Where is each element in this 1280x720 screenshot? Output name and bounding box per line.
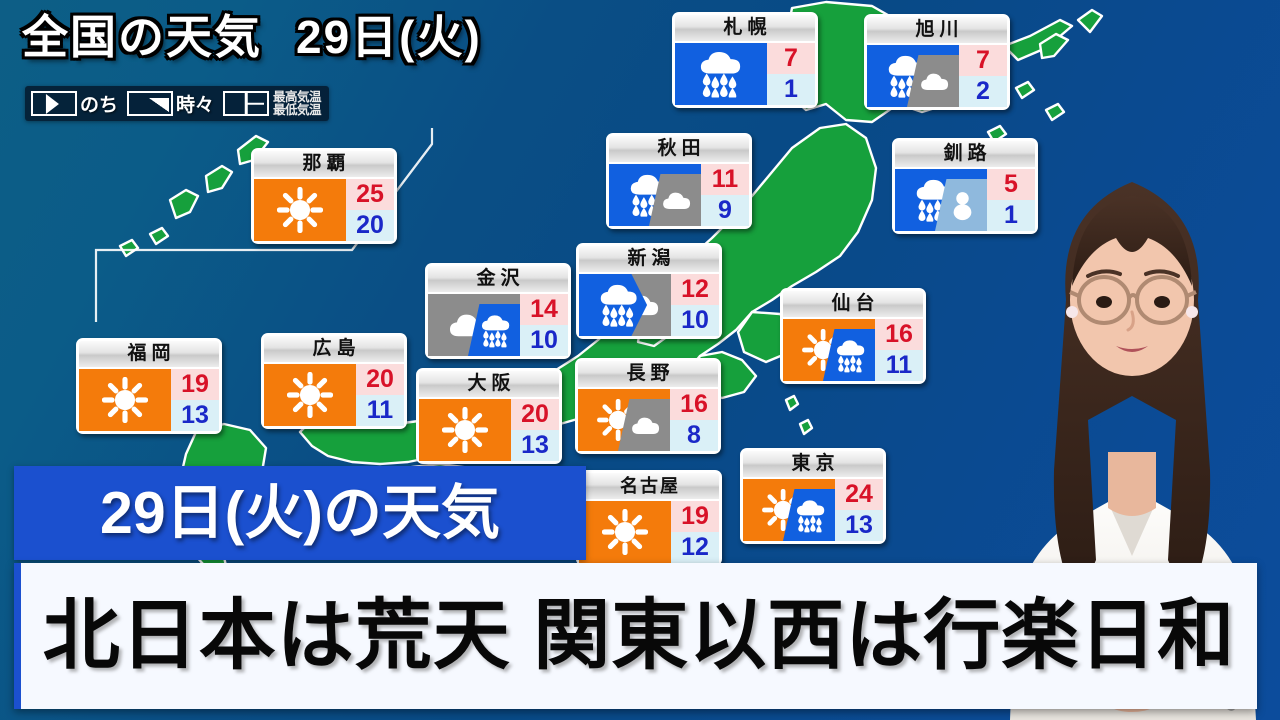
temperature-block: 2011 bbox=[356, 364, 404, 426]
temperature-block: 2520 bbox=[346, 179, 394, 241]
temperature-block: 1912 bbox=[671, 501, 719, 563]
low-temperature: 20 bbox=[346, 210, 394, 241]
weather-condition-graphic bbox=[254, 179, 346, 241]
high-temperature: 19 bbox=[671, 501, 719, 532]
card-body: 2013 bbox=[419, 399, 559, 461]
temp-split-icon bbox=[223, 91, 269, 116]
weather-condition-graphic bbox=[264, 364, 356, 426]
city-name: 仙台 bbox=[783, 291, 923, 317]
weather-condition-graphic bbox=[419, 399, 511, 461]
high-temperature: 25 bbox=[346, 179, 394, 210]
low-temperature: 11 bbox=[875, 350, 923, 381]
city-name: 長野 bbox=[578, 361, 718, 387]
city-name: 金沢 bbox=[428, 266, 568, 292]
card-body: 2413 bbox=[743, 479, 883, 541]
weather-card[interactable]: 長野 168 bbox=[575, 358, 721, 454]
rain-icon bbox=[698, 51, 744, 98]
card-body: 168 bbox=[578, 389, 718, 451]
temperature-block: 168 bbox=[670, 389, 718, 451]
weather-condition-graphic bbox=[895, 169, 987, 231]
primary-condition-layer bbox=[79, 369, 171, 431]
city-name: 新潟 bbox=[579, 246, 719, 272]
weather-card[interactable]: 名古屋1912 bbox=[576, 470, 722, 566]
legend-item-nochi: のち bbox=[31, 90, 118, 117]
card-body: 71 bbox=[675, 43, 815, 105]
low-temperature: 9 bbox=[701, 195, 749, 226]
weather-card[interactable]: 東京 2413 bbox=[740, 448, 886, 544]
weather-card[interactable]: 札幌 71 bbox=[672, 12, 818, 108]
low-temperature: 13 bbox=[171, 400, 219, 431]
primary-condition-layer bbox=[419, 399, 511, 461]
city-name: 秋田 bbox=[609, 136, 749, 162]
title-text: 全国の天気 bbox=[22, 11, 262, 63]
legend-label-low-temp: 最低気温 bbox=[273, 104, 321, 117]
weather-card[interactable]: 広島2011 bbox=[261, 333, 407, 429]
tokidoki-split-icon bbox=[127, 91, 173, 116]
weather-condition-graphic bbox=[579, 274, 671, 336]
legend-label-nochi: のち bbox=[80, 90, 118, 117]
weather-condition-graphic bbox=[867, 45, 959, 107]
weather-condition-graphic bbox=[783, 319, 875, 381]
city-name: 広島 bbox=[264, 336, 404, 362]
page-title: 全国の天気29日(火) bbox=[22, 14, 482, 60]
weather-card[interactable]: 秋田 119 bbox=[606, 133, 752, 229]
title-date: 29日(火) bbox=[296, 11, 482, 63]
weather-condition-graphic bbox=[609, 164, 701, 226]
legend-label-tokidoki: 時々 bbox=[176, 90, 214, 117]
weather-condition-graphic bbox=[79, 369, 171, 431]
card-body: 1913 bbox=[79, 369, 219, 431]
weather-condition-graphic bbox=[428, 294, 520, 356]
low-temperature: 10 bbox=[671, 305, 719, 336]
legend-label-high-temp: 最高気温 bbox=[273, 91, 321, 104]
rain-icon bbox=[795, 499, 827, 532]
card-body: 2520 bbox=[254, 179, 394, 241]
weather-card[interactable]: 大阪2013 bbox=[416, 368, 562, 464]
weather-card[interactable]: 金沢 1410 bbox=[425, 263, 571, 359]
temperature-block: 71 bbox=[767, 43, 815, 105]
high-temperature: 16 bbox=[875, 319, 923, 350]
sunny-icon bbox=[102, 377, 148, 423]
temperature-block: 2413 bbox=[835, 479, 883, 541]
weather-condition-graphic bbox=[579, 501, 671, 563]
high-temperature: 20 bbox=[356, 364, 404, 395]
low-temperature: 11 bbox=[356, 395, 404, 426]
sunny-icon bbox=[442, 407, 488, 453]
weather-card[interactable]: 福岡1913 bbox=[76, 338, 222, 434]
primary-condition-layer bbox=[579, 501, 671, 563]
sunny-icon bbox=[277, 187, 323, 233]
high-temperature: 12 bbox=[671, 274, 719, 305]
legend: のち 時々 最高気温 最低気温 bbox=[25, 86, 329, 121]
cloud-icon bbox=[630, 414, 662, 438]
card-body: 119 bbox=[609, 164, 749, 226]
card-body: 1210 bbox=[579, 274, 719, 336]
card-body: 1611 bbox=[783, 319, 923, 381]
temperature-block: 1210 bbox=[671, 274, 719, 336]
weather-condition-graphic bbox=[578, 389, 670, 451]
weather-condition-graphic bbox=[743, 479, 835, 541]
high-temperature: 7 bbox=[767, 43, 815, 74]
temperature-block: 2013 bbox=[511, 399, 559, 461]
high-temperature: 16 bbox=[670, 389, 718, 420]
temperature-block: 1410 bbox=[520, 294, 568, 356]
weather-card[interactable]: 那覇2520 bbox=[251, 148, 397, 244]
high-temperature: 20 bbox=[511, 399, 559, 430]
headline-banner: 29日(火)の天気 bbox=[14, 466, 586, 560]
high-temperature: 24 bbox=[835, 479, 883, 510]
card-body: 1912 bbox=[579, 501, 719, 563]
city-name: 福岡 bbox=[79, 341, 219, 367]
card-body: 2011 bbox=[264, 364, 404, 426]
low-temperature: 13 bbox=[511, 430, 559, 461]
legend-item-tokidoki: 時々 bbox=[127, 90, 214, 117]
cloud-icon bbox=[919, 70, 951, 94]
city-name: 那覇 bbox=[254, 151, 394, 177]
low-temperature: 10 bbox=[520, 325, 568, 356]
high-temperature: 14 bbox=[520, 294, 568, 325]
weather-broadcast-screen: 全国の天気29日(火) のち 時々 最高気温 最低気温 札幌 71旭川 72釧路… bbox=[0, 0, 1280, 720]
primary-condition-layer bbox=[675, 43, 767, 105]
weather-card[interactable]: 新潟 1210 bbox=[576, 243, 722, 339]
subline-text: 北日本は荒天 関東以西は行楽日和 bbox=[43, 598, 1235, 675]
city-name: 東京 bbox=[743, 451, 883, 477]
low-temperature: 1 bbox=[767, 74, 815, 105]
city-name: 札幌 bbox=[675, 15, 815, 41]
rain-icon bbox=[835, 339, 867, 372]
sunny-icon bbox=[602, 509, 648, 555]
sunny-icon bbox=[287, 372, 333, 418]
cloud-icon bbox=[661, 189, 693, 213]
high-temperature: 19 bbox=[171, 369, 219, 400]
high-temperature: 11 bbox=[701, 164, 749, 195]
low-temperature: 12 bbox=[671, 532, 719, 563]
low-temperature: 8 bbox=[670, 420, 718, 451]
weather-condition-graphic bbox=[675, 43, 767, 105]
card-body: 1410 bbox=[428, 294, 568, 356]
rain-icon bbox=[598, 284, 640, 327]
snow-icon bbox=[950, 190, 975, 222]
weather-card[interactable]: 仙台 1611 bbox=[780, 288, 926, 384]
temperature-block: 1611 bbox=[875, 319, 923, 381]
primary-condition-layer bbox=[264, 364, 356, 426]
subline-banner: 北日本は荒天 関東以西は行楽日和 bbox=[14, 563, 1257, 709]
city-name: 名古屋 bbox=[579, 473, 719, 499]
low-temperature: 13 bbox=[835, 510, 883, 541]
city-name: 大阪 bbox=[419, 371, 559, 397]
headline-text: 29日(火)の天気 bbox=[100, 484, 500, 543]
primary-condition-layer bbox=[254, 179, 346, 241]
temperature-block: 1913 bbox=[171, 369, 219, 431]
temperature-block: 119 bbox=[701, 164, 749, 226]
nochi-split-icon bbox=[31, 91, 77, 116]
legend-item-temperature: 最高気温 最低気温 bbox=[223, 91, 321, 117]
rain-icon bbox=[480, 314, 512, 347]
